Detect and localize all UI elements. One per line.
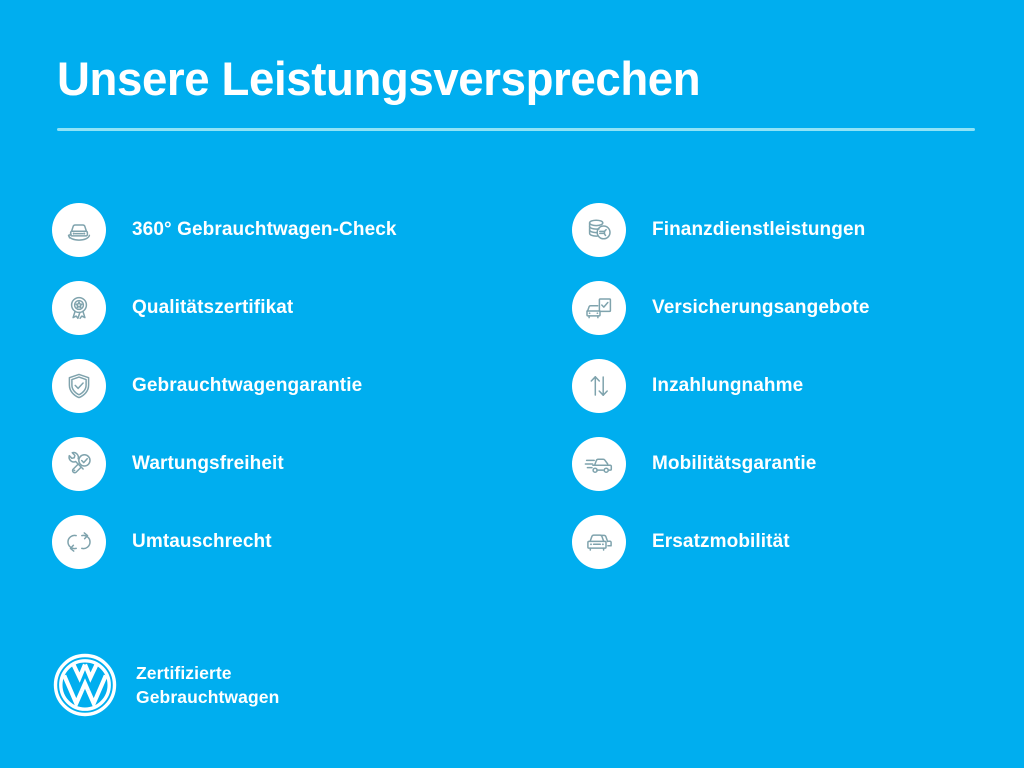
promise-item-mobility-guarantee[interactable]: Mobilitätsgarantie [572, 437, 1024, 491]
promise-label: Mobilitätsgarantie [652, 453, 816, 475]
shield-check-icon [52, 359, 106, 413]
arrows-up-down-icon [572, 359, 626, 413]
brand-line-1: Zertifizierte [136, 661, 279, 685]
promise-column-left: 360° Gebrauchtwagen-Check Qualitätszerti… [52, 203, 522, 569]
promises-slide: Unsere Leistungsversprechen [0, 0, 1024, 768]
coins-euro-icon [572, 203, 626, 257]
brand-line-2: Gebrauchtwagen [136, 685, 279, 709]
promise-label: Wartungsfreiheit [132, 453, 284, 475]
brand-lockup: Zertifizierte Gebrauchtwagen [52, 652, 279, 718]
promise-label: 360° Gebrauchtwagen-Check [132, 219, 397, 241]
car-360-check-icon [52, 203, 106, 257]
promise-item-maintenance-free[interactable]: Wartungsfreiheit [52, 437, 522, 491]
promise-label: Finanzdienstleistungen [652, 219, 865, 241]
promise-item-replacement-mobility[interactable]: Ersatzmobilität [572, 515, 1024, 569]
promise-label: Ersatzmobilität [652, 531, 790, 553]
volkswagen-logo-icon [52, 652, 118, 718]
promise-item-used-car-warranty[interactable]: Gebrauchtwagengarantie [52, 359, 522, 413]
promise-item-trade-in[interactable]: Inzahlungnahme [572, 359, 1024, 413]
promise-label: Umtauschrecht [132, 531, 272, 553]
wrench-check-icon [52, 437, 106, 491]
promise-label: Gebrauchtwagengarantie [132, 375, 362, 397]
car-document-check-icon [572, 281, 626, 335]
promise-item-quality-certificate[interactable]: Qualitätszertifikat [52, 281, 522, 335]
car-motion-icon [572, 437, 626, 491]
promise-column-right: Finanzdienstleistungen Versicherungsange… [572, 203, 1024, 569]
promise-item-exchange-right[interactable]: Umtauschrecht [52, 515, 522, 569]
promise-item-insurance-offers[interactable]: Versicherungsangebote [572, 281, 1024, 335]
promise-label: Versicherungsangebote [652, 297, 870, 319]
two-cars-icon [572, 515, 626, 569]
promise-item-360-check[interactable]: 360° Gebrauchtwagen-Check [52, 203, 522, 257]
promise-item-financial-services[interactable]: Finanzdienstleistungen [572, 203, 1024, 257]
brand-text: Zertifizierte Gebrauchtwagen [136, 661, 279, 709]
promise-label: Inzahlungnahme [652, 375, 803, 397]
exchange-arrows-icon [52, 515, 106, 569]
promise-label: Qualitätszertifikat [132, 297, 293, 319]
award-rosette-icon [52, 281, 106, 335]
